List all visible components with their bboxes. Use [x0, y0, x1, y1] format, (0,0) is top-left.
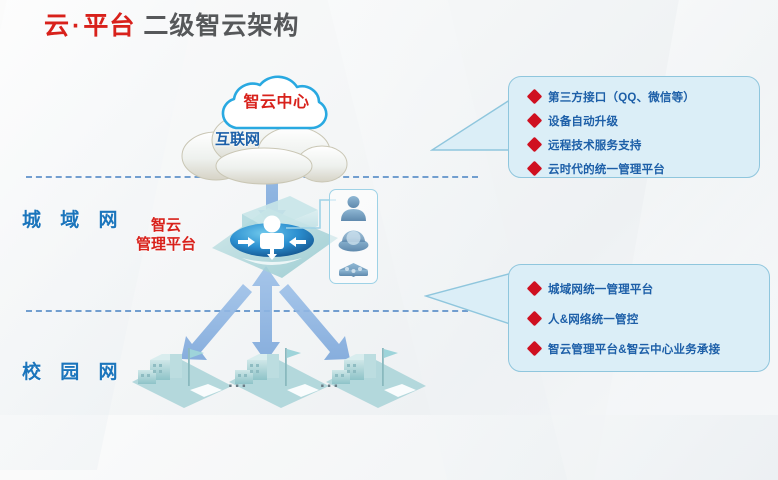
user-icon — [341, 196, 366, 221]
callout-bottom-item-2: 人&网络统一管控 — [529, 306, 763, 331]
callout-bottom-text-1: 城域网统一管理平台 — [548, 281, 653, 297]
callout-cloud-features: 第三方接口（QQ、微信等） 设备自动升级 远程技术服务支持 云时代的统一管理平台 — [508, 76, 760, 178]
diamond-bullet-icon — [527, 137, 543, 153]
callout-bottom-text-3: 智云管理平台&智云中心业务承接 — [548, 341, 720, 357]
cloud-dome-icon — [339, 231, 369, 252]
title-separator-dot: · — [70, 12, 83, 40]
title-subtitle: 二级智云架构 — [143, 12, 299, 40]
zone-label-metro: 城 域 网 — [22, 205, 125, 232]
callout-top-text-4: 云时代的统一管理平台 — [548, 161, 665, 177]
campus-node-1 — [128, 346, 236, 408]
callout-top-item-3: 远程技术服务支持 — [529, 134, 753, 155]
platform-label: 智云 管理平台 — [120, 216, 212, 254]
callout-bottom-text-2: 人&网络统一管控 — [548, 311, 638, 327]
callout-metro-features: 城域网统一管理平台 人&网络统一管控 智云管理平台&智云中心业务承接 — [508, 264, 770, 372]
title-brand-red: 云 — [44, 12, 70, 40]
callout-bottom-tail — [424, 268, 516, 330]
diamond-bullet-icon — [527, 113, 543, 129]
campus-ellipsis-2: ... — [320, 372, 340, 392]
callout-top-text-2: 设备自动升级 — [548, 113, 618, 129]
device-icon-panel — [329, 189, 378, 284]
platform-label-line2: 管理平台 — [120, 235, 212, 254]
callout-top-tail — [430, 92, 516, 158]
diamond-bullet-icon — [527, 341, 543, 357]
callout-top-item-4: 云时代的统一管理平台 — [529, 158, 753, 179]
title-brand-red-2: 平台 — [83, 12, 135, 40]
diamond-bullet-icon — [527, 311, 543, 327]
callout-top-item-1: 第三方接口（QQ、微信等） — [529, 86, 753, 107]
diagram-canvas: 云·平台 二级智云架构 城 域 网 校 园 网 — [0, 0, 778, 415]
callout-top-text-1: 第三方接口（QQ、微信等） — [548, 89, 695, 105]
server-device-icon — [339, 263, 368, 277]
zone-label-campus: 校 园 网 — [22, 357, 125, 384]
callout-top-list: 第三方接口（QQ、微信等） 设备自动升级 远程技术服务支持 云时代的统一管理平台 — [529, 86, 753, 182]
platform-label-line1: 智云 — [120, 216, 212, 235]
campus-ellipsis-1: ... — [228, 372, 248, 392]
zhiyun-center-label: 智云中心 — [214, 88, 339, 112]
diamond-bullet-icon — [527, 89, 543, 105]
callout-top-item-2: 设备自动升级 — [529, 110, 753, 131]
diamond-bullet-icon — [527, 161, 543, 177]
callout-bottom-item-1: 城域网统一管理平台 — [529, 276, 763, 301]
callout-bottom-list: 城域网统一管理平台 人&网络统一管控 智云管理平台&智云中心业务承接 — [529, 276, 763, 366]
callout-top-text-3: 远程技术服务支持 — [548, 137, 642, 153]
callout-bottom-item-3: 智云管理平台&智云中心业务承接 — [529, 336, 763, 361]
background-streak-right — [594, 0, 778, 480]
page-title: 云·平台 二级智云架构 — [44, 6, 299, 42]
zone-divider-campus — [26, 310, 478, 312]
diamond-bullet-icon — [527, 281, 543, 297]
